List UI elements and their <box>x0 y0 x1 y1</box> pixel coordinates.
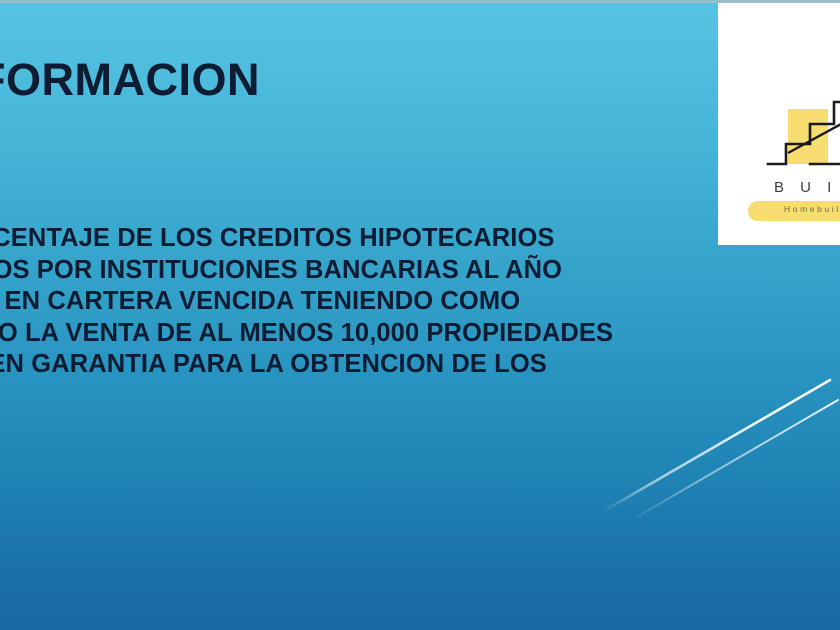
body-line: PUESTAS EN GARANTIA PARA LA OBTENCION DE… <box>0 349 840 381</box>
logo-tagline: Homebuilders <box>784 204 840 214</box>
body-line: ALTO PORCENTAJE DE LOS CREDITOS HIPOTECA… <box>0 223 840 255</box>
body-line: CREDITOS. <box>0 381 840 413</box>
slide-body-text: ALTO PORCENTAJE DE LOS CREDITOS HIPOTECA… <box>0 223 840 412</box>
body-line: OTORGADOS POR INSTITUCIONES BANCARIAS AL… <box>0 255 840 287</box>
body-line: TERMINAN EN CARTERA VENCIDA TENIENDO COM… <box>0 286 840 318</box>
top-edge-strip <box>0 0 840 3</box>
body-line: RESULTADO LA VENTA DE AL MENOS 10,000 PR… <box>0 318 840 350</box>
slide-title: INFORMACION <box>0 56 732 103</box>
logo-wordmark: B U I L D <box>774 179 840 196</box>
company-logo: B U I L D Homebuilders <box>766 91 840 221</box>
presentation-slide: B U I L D Homebuilders INFORMACION ALTO … <box>0 0 840 630</box>
building-stairs-logo-icon <box>766 91 840 181</box>
logo-panel: B U I L D Homebuilders <box>718 3 840 245</box>
